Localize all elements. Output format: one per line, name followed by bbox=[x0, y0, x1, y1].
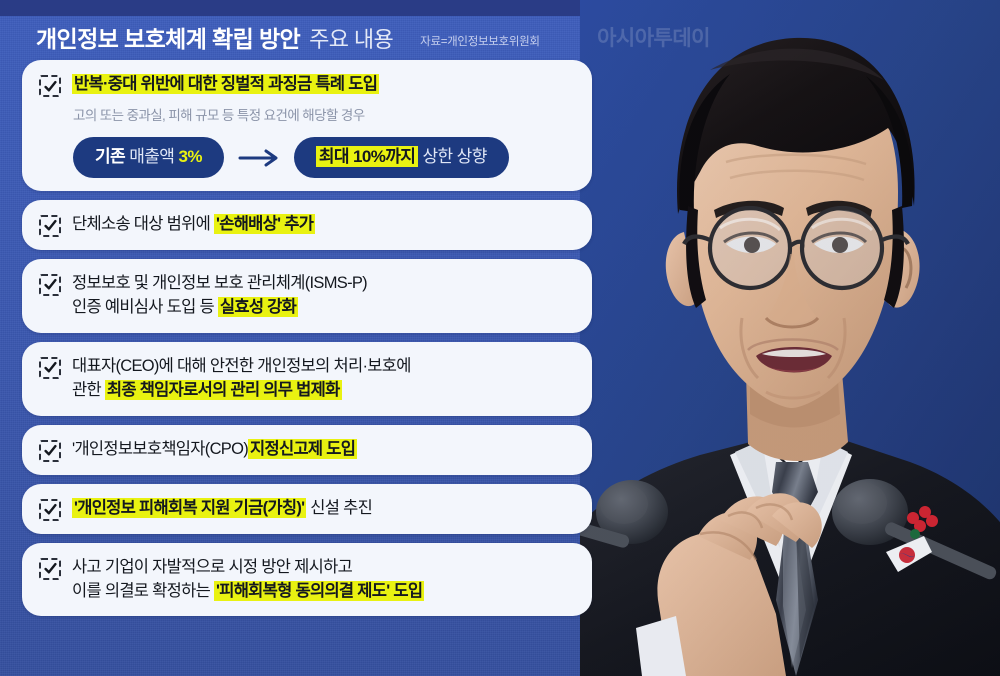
highlighted-text: '피해회복형 동의의결 제도' 도입 bbox=[214, 581, 424, 601]
watermark-logo: 아시아투데이 bbox=[597, 22, 710, 52]
checkbox-checked-icon[interactable] bbox=[39, 274, 61, 296]
checkbox-checked-icon[interactable] bbox=[39, 440, 61, 462]
arrow-right-icon bbox=[238, 147, 280, 169]
source-credit: 자료=개인정보보호위원회 bbox=[420, 33, 540, 49]
card-text-line: 사고 기업이 자발적으로 시정 방안 제시하고 bbox=[72, 556, 574, 579]
checkbox-checked-icon[interactable] bbox=[39, 499, 61, 521]
plain-text: 정보보호 및 개인정보 보호 관리체계(ISMS-P) bbox=[72, 274, 367, 292]
plain-text: 대표자(CEO)에 대해 안전한 개인정보의 처리·보호에 bbox=[72, 357, 411, 375]
plain-text: 사고 기업이 자발적으로 시정 방안 제시하고 bbox=[72, 558, 352, 576]
card-body: '개인정보 피해회복 지원 기금(가칭)' 신설 추진 bbox=[72, 497, 574, 520]
checkbox-checked-icon[interactable] bbox=[39, 357, 61, 379]
card-text-line: 단체소송 대상 범위에 '손해배상' 추가 bbox=[72, 213, 574, 236]
card-row: 사고 기업이 자발적으로 시정 방안 제시하고이를 의결로 확정하는 '피해회복… bbox=[39, 556, 574, 604]
card-row: '개인정보보호책임자(CPO)지정신고제 도입 bbox=[39, 438, 574, 462]
highlighted-text: 최종 책임자로서의 관리 의무 법제화 bbox=[105, 380, 342, 400]
cards-list: 반복·중대 위반에 대한 징벌적 과징금 특례 도입고의 또는 중과실, 피해 … bbox=[22, 60, 592, 616]
card-body: 대표자(CEO)에 대해 안전한 개인정보의 처리·보호에관한 최종 책임자로서… bbox=[72, 355, 574, 403]
card-body: 반복·중대 위반에 대한 징벌적 과징금 특례 도입고의 또는 중과실, 피해 … bbox=[72, 73, 574, 178]
card-isms-p[interactable]: 정보보호 및 개인정보 보호 관리체계(ISMS-P)인증 예비심사 도입 등 … bbox=[22, 259, 592, 333]
plain-text: 신설 추진 bbox=[306, 499, 372, 517]
card-relief-fund[interactable]: '개인정보 피해회복 지원 기금(가칭)' 신설 추진 bbox=[22, 484, 592, 534]
highlighted-text: 최대 10%까지 bbox=[316, 146, 419, 167]
highlighted-text: '개인정보 피해회복 지원 기금(가칭)' bbox=[72, 498, 306, 518]
card-ceo-duty[interactable]: 대표자(CEO)에 대해 안전한 개인정보의 처리·보호에관한 최종 책임자로서… bbox=[22, 342, 592, 416]
checkbox-checked-icon[interactable] bbox=[39, 558, 61, 580]
pill-new-cap[interactable]: 최대 10%까지 상한 상향 bbox=[294, 137, 509, 177]
page-title: 개인정보 보호체계 확립 방안 bbox=[36, 20, 300, 54]
plain-text: 인증 예비심사 도입 등 bbox=[72, 298, 218, 316]
card-body: 사고 기업이 자발적으로 시정 방안 제시하고이를 의결로 확정하는 '피해회복… bbox=[72, 556, 574, 604]
plain-text: 매출액 bbox=[125, 147, 178, 166]
card-body: '개인정보보호책임자(CPO)지정신고제 도입 bbox=[72, 438, 574, 461]
checkbox-checked-icon[interactable] bbox=[39, 215, 61, 237]
header: 개인정보 보호체계 확립 방안 주요 내용 자료=개인정보보호위원회 bbox=[36, 20, 540, 54]
highlighted-text: 지정신고제 도입 bbox=[248, 439, 357, 459]
card-subtitle: 고의 또는 중과실, 피해 규모 등 특정 요건에 해당할 경우 bbox=[73, 104, 574, 124]
surcharge-comparison-row: 기존 매출액 3%최대 10%까지 상한 상향 bbox=[73, 137, 574, 177]
metric-value: 3% bbox=[178, 147, 201, 166]
card-row: 대표자(CEO)에 대해 안전한 개인정보의 처리·보호에관한 최종 책임자로서… bbox=[39, 355, 574, 403]
highlighted-text: 실효성 강화 bbox=[218, 297, 298, 317]
card-text-line: 인증 예비심사 도입 등 실효성 강화 bbox=[72, 296, 574, 319]
card-text-line: 이를 의결로 확정하는 '피해회복형 동의의결 제도' 도입 bbox=[72, 580, 574, 603]
page-subtitle: 주요 내용 bbox=[309, 22, 393, 54]
highlighted-text: '손해배상' 추가 bbox=[214, 214, 315, 234]
card-text-line: 정보보호 및 개인정보 보호 관리체계(ISMS-P) bbox=[72, 272, 574, 295]
plain-text: '개인정보보호책임자(CPO) bbox=[72, 440, 248, 458]
pill-current-cap[interactable]: 기존 매출액 3% bbox=[73, 137, 224, 177]
highlighted-text: 반복·중대 위반에 대한 징벌적 과징금 특례 도입 bbox=[72, 74, 379, 94]
card-row: 정보보호 및 개인정보 보호 관리체계(ISMS-P)인증 예비심사 도입 등 … bbox=[39, 272, 574, 320]
card-body: 정보보호 및 개인정보 보호 관리체계(ISMS-P)인증 예비심사 도입 등 … bbox=[72, 272, 574, 320]
infographic-root: 개인정보 보호체계 확립 방안 주요 내용 자료=개인정보보호위원회 아시아투데… bbox=[0, 0, 1000, 676]
plain-text: 상한 상향 bbox=[418, 147, 486, 166]
card-row: '개인정보 피해회복 지원 기금(가칭)' 신설 추진 bbox=[39, 497, 574, 521]
press-conference-photo bbox=[580, 0, 1000, 676]
card-text-line: 관한 최종 책임자로서의 관리 의무 법제화 bbox=[72, 379, 574, 402]
card-consent-decree[interactable]: 사고 기업이 자발적으로 시정 방안 제시하고이를 의결로 확정하는 '피해회복… bbox=[22, 543, 592, 617]
card-text-line: 반복·중대 위반에 대한 징벌적 과징금 특례 도입 bbox=[72, 73, 574, 96]
card-row: 단체소송 대상 범위에 '손해배상' 추가 bbox=[39, 213, 574, 237]
card-text-line: 대표자(CEO)에 대해 안전한 개인정보의 처리·보호에 bbox=[72, 355, 574, 378]
card-text-line: '개인정보 피해회복 지원 기금(가칭)' 신설 추진 bbox=[72, 497, 574, 520]
card-class-action[interactable]: 단체소송 대상 범위에 '손해배상' 추가 bbox=[22, 200, 592, 250]
plain-text: 이를 의결로 확정하는 bbox=[72, 582, 214, 600]
plain-text: 단체소송 대상 범위에 bbox=[72, 215, 214, 233]
emphasis-text: 기존 bbox=[95, 147, 125, 166]
plain-text: 관한 bbox=[72, 381, 105, 399]
card-row: 반복·중대 위반에 대한 징벌적 과징금 특례 도입고의 또는 중과실, 피해 … bbox=[39, 73, 574, 178]
card-penalty-surcharge[interactable]: 반복·중대 위반에 대한 징벌적 과징금 특례 도입고의 또는 중과실, 피해 … bbox=[22, 60, 592, 191]
card-body: 단체소송 대상 범위에 '손해배상' 추가 bbox=[72, 213, 574, 236]
checkbox-checked-icon[interactable] bbox=[39, 75, 61, 97]
card-cpo-registration[interactable]: '개인정보보호책임자(CPO)지정신고제 도입 bbox=[22, 425, 592, 475]
card-text-line: '개인정보보호책임자(CPO)지정신고제 도입 bbox=[72, 438, 574, 461]
